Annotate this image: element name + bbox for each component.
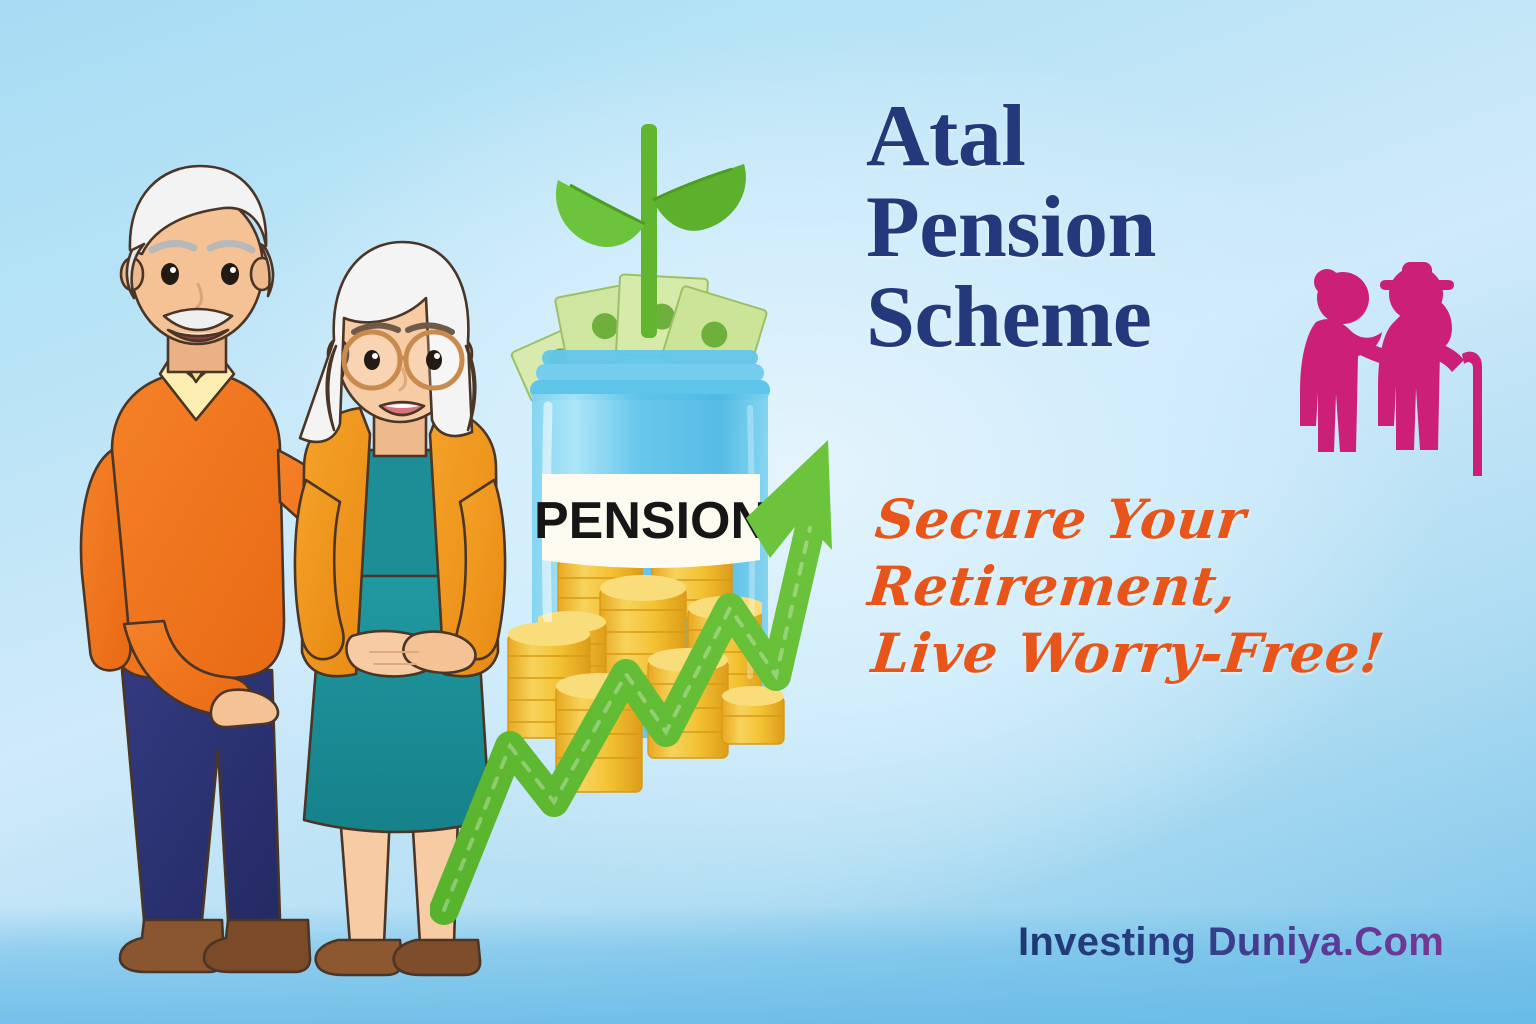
tagline-block: Secure Your Retirement, Live Worry-Free! (872, 486, 1392, 687)
title-line-1: Atal (866, 92, 1386, 183)
promo-banner: PENSION (0, 0, 1536, 1024)
elderly-couple-silhouette-icon (1296, 256, 1486, 491)
tagline-line-2: Live Worry-Free! (868, 620, 1395, 687)
pension-jar-scene: PENSION (430, 88, 870, 943)
tagline-line-1: Secure Your Retirement, (865, 486, 1399, 620)
brand-watermark: Investing Duniya.Com (1018, 920, 1444, 965)
jar-label-text: PENSION (534, 492, 768, 550)
jar-label: PENSION (534, 474, 768, 568)
